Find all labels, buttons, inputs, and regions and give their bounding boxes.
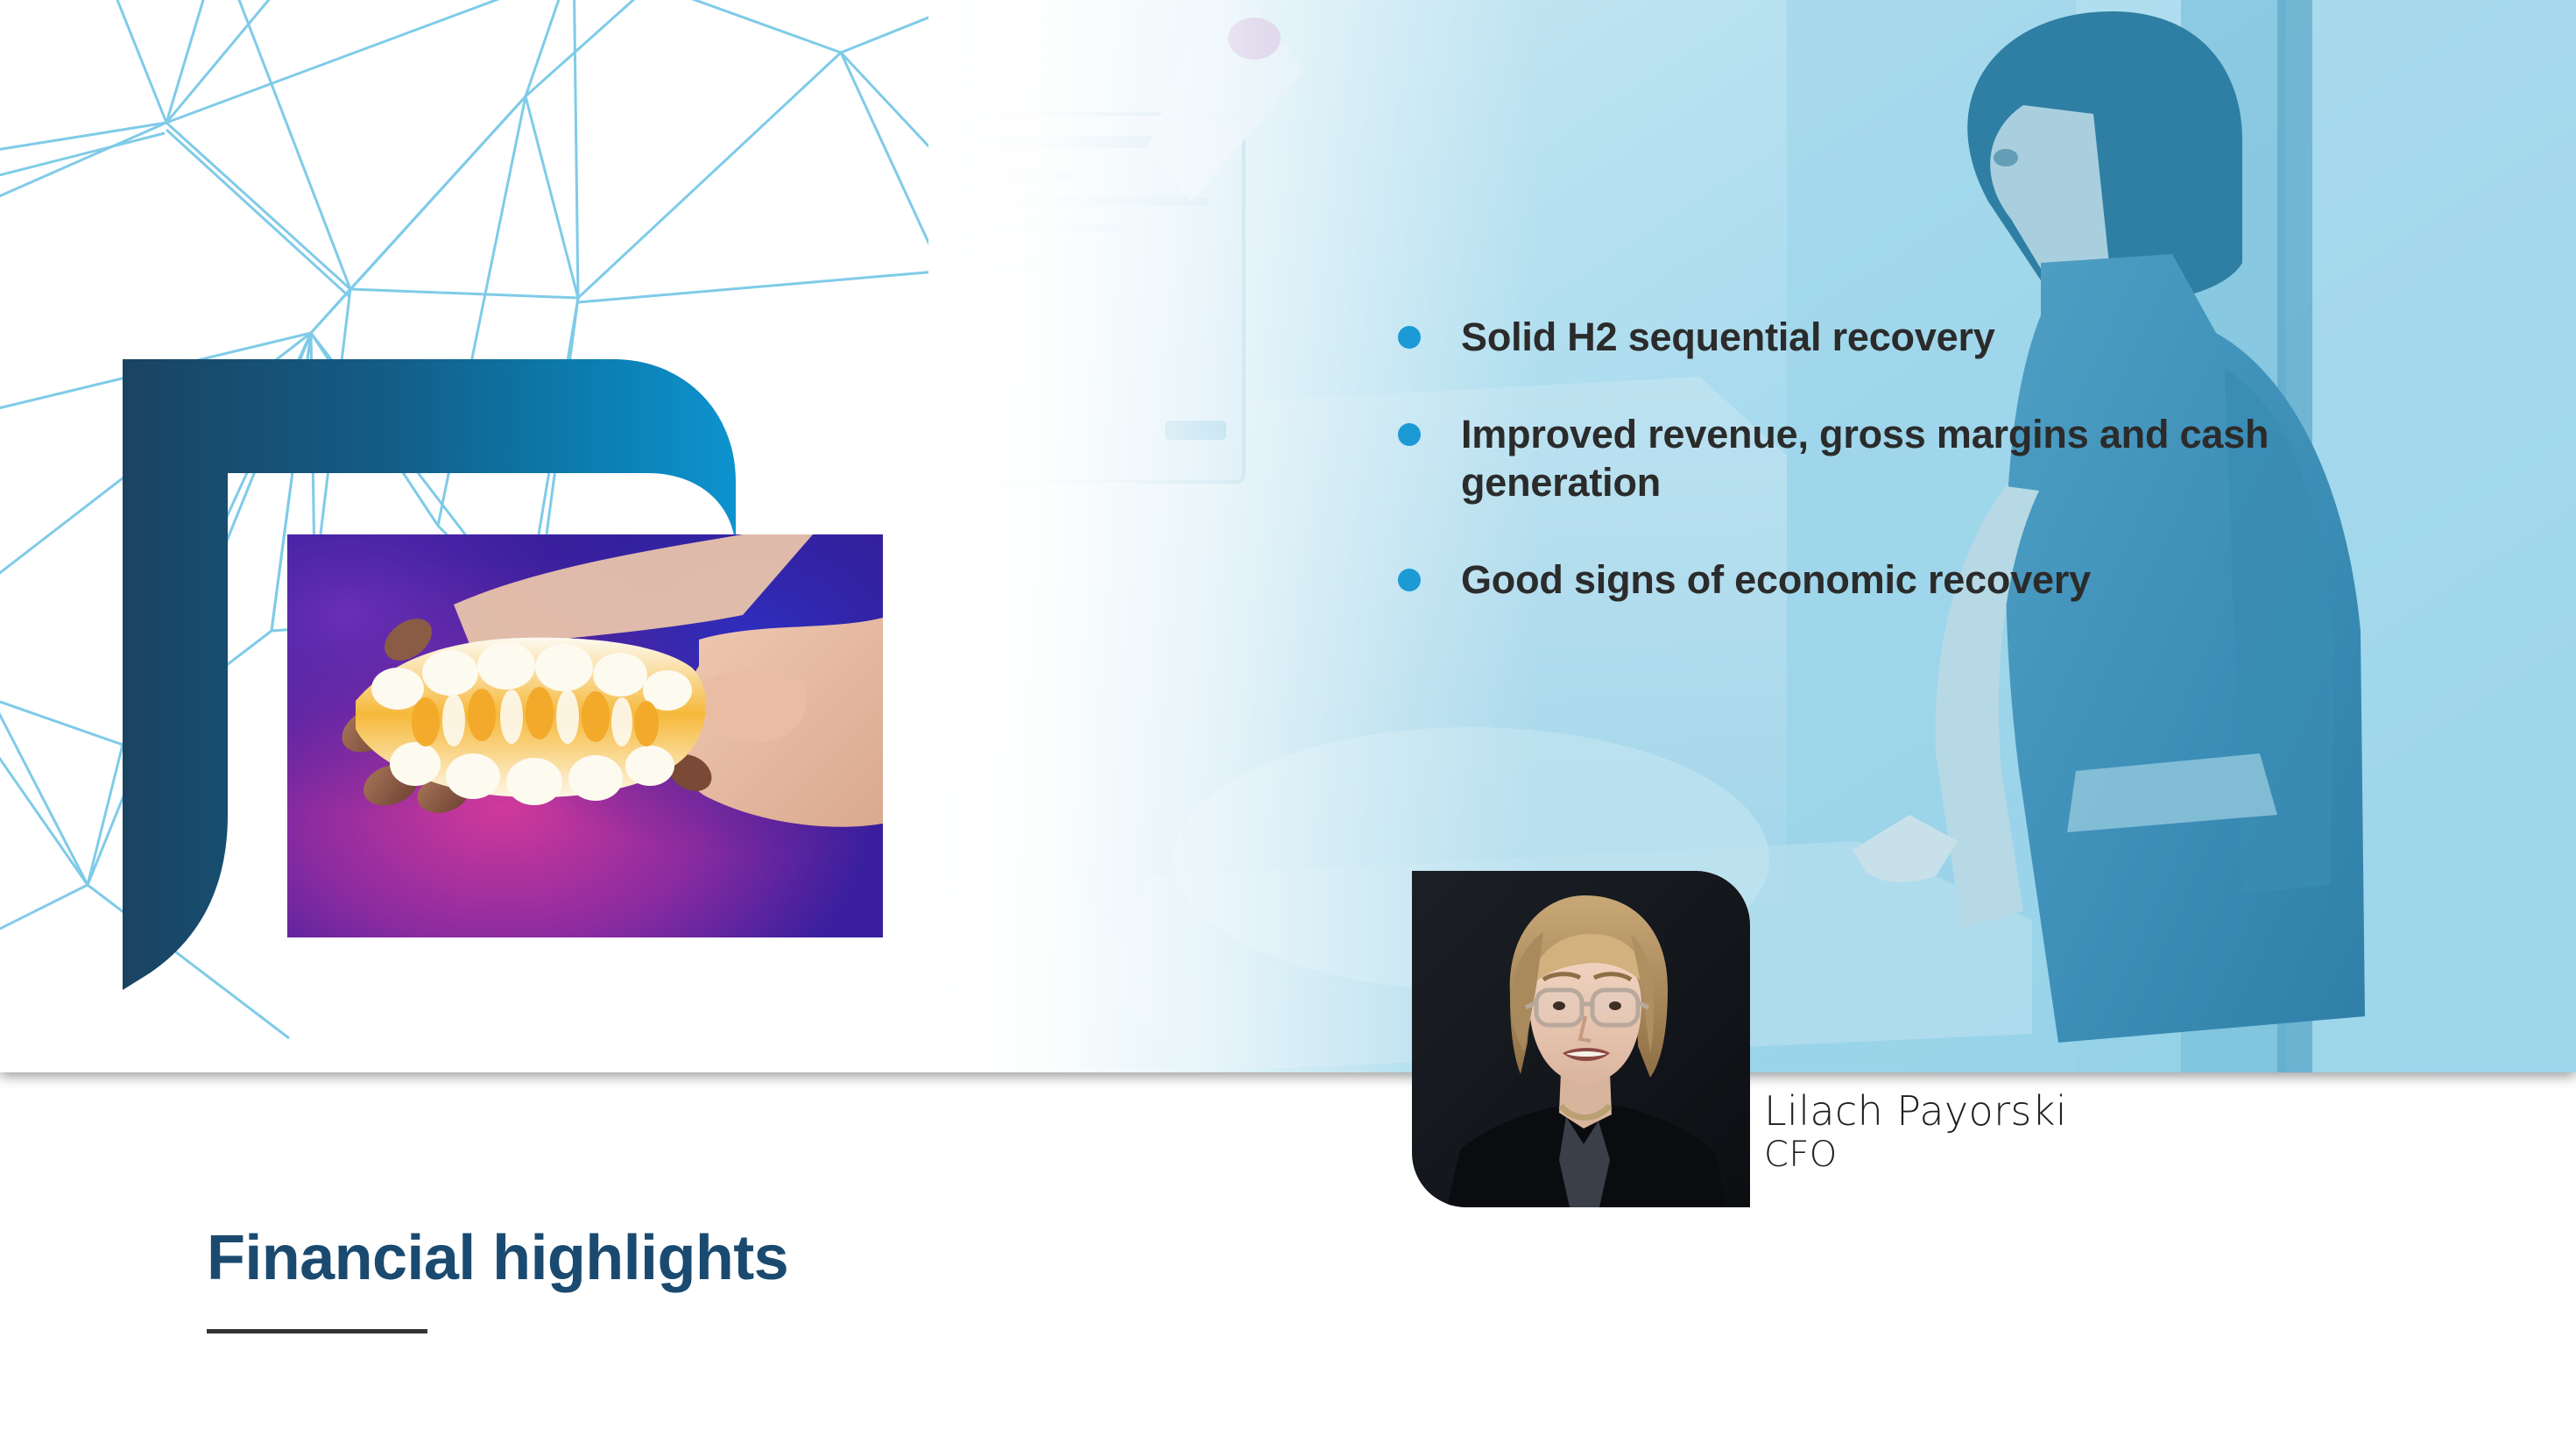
- spine-model-photo-art: [287, 534, 883, 937]
- bullet-dot-icon: [1398, 326, 1421, 349]
- page-title: Financial highlights: [207, 1227, 1258, 1290]
- spine-model-photo: [287, 534, 883, 937]
- framed-photo-group: [123, 359, 788, 1034]
- bullet-item: Good signs of economic recovery: [1398, 556, 2414, 605]
- speaker-name: Lilach Payorski: [1764, 1090, 2067, 1133]
- bullet-text: Solid H2 sequential recovery: [1461, 314, 1995, 362]
- bullet-text: Improved revenue, gross margins and cash…: [1461, 411, 2414, 507]
- speaker-avatar-art: [1412, 871, 1750, 1207]
- bullet-item: Solid H2 sequential recovery: [1398, 314, 2414, 362]
- bullet-list: Solid H2 sequential recovery Improved re…: [1398, 314, 2414, 654]
- speaker-caption: Lilach Payorski CFO: [1764, 1090, 2067, 1173]
- presentation-slide: Solid H2 sequential recovery Improved re…: [0, 0, 2576, 1450]
- title-underline-rule: [207, 1329, 427, 1333]
- bullet-dot-icon: [1398, 569, 1421, 591]
- title-block: Financial highlights: [207, 1227, 1258, 1333]
- speaker-block: Lilach Payorski CFO: [1412, 871, 2078, 1239]
- speaker-role: CFO: [1764, 1136, 2067, 1173]
- slide-content-panel: Solid H2 sequential recovery Improved re…: [0, 0, 2576, 1072]
- bullet-text: Good signs of economic recovery: [1461, 556, 2091, 605]
- speaker-avatar: [1412, 871, 1750, 1207]
- bullet-item: Improved revenue, gross margins and cash…: [1398, 411, 2414, 507]
- bullet-dot-icon: [1398, 423, 1421, 446]
